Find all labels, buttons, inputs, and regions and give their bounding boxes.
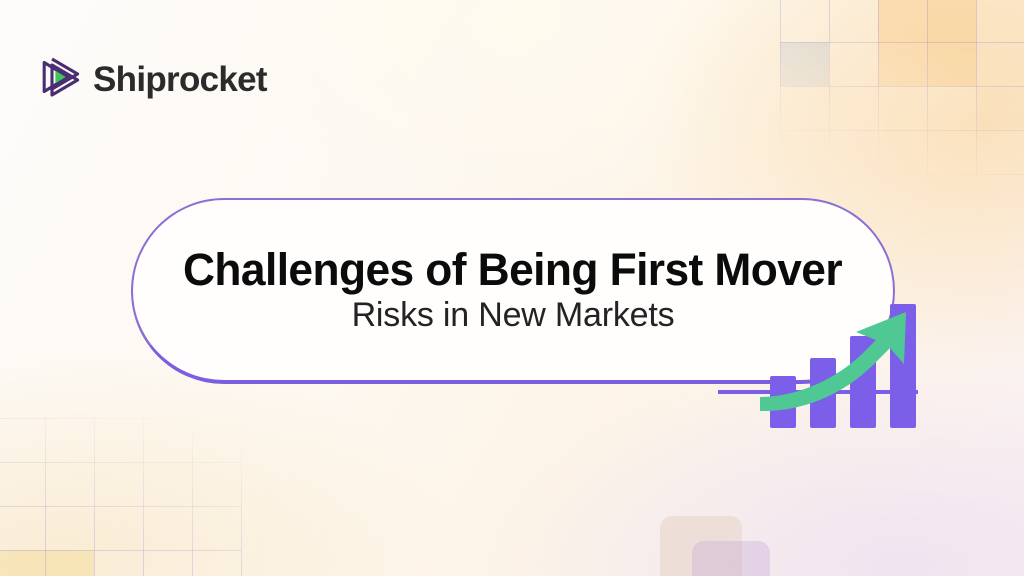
grid-line-horizontal	[780, 130, 1024, 131]
growth-bar-chart-with-arrow-icon	[744, 288, 944, 464]
shiprocket-play-triangle-icon	[38, 54, 84, 105]
grid-line-vertical	[976, 0, 977, 174]
grid-line-horizontal	[780, 174, 1024, 175]
grid-line-vertical	[45, 418, 46, 576]
soft-rect-purple	[692, 541, 770, 576]
grid-line-horizontal	[780, 86, 1024, 87]
grid-line-vertical	[927, 0, 928, 174]
grid-line-vertical	[94, 418, 95, 576]
grid-cell	[976, 42, 1024, 86]
grid-line-horizontal	[0, 462, 241, 463]
grid-cell	[780, 42, 829, 86]
grid-line-vertical	[192, 418, 193, 576]
page-subtitle: Risks in New Markets	[352, 297, 675, 334]
grid-line-vertical	[878, 0, 879, 174]
decorative-grid-bottom-left	[0, 418, 248, 576]
grid-line-vertical	[780, 0, 781, 174]
grid-line-vertical	[143, 418, 144, 576]
grid-line-horizontal	[0, 418, 241, 419]
grid-cell	[976, 86, 1024, 130]
grid-line-horizontal	[0, 550, 241, 551]
grid-line-vertical	[829, 0, 830, 174]
grid-line-horizontal	[0, 506, 241, 507]
brand-logo[interactable]: Shiprocket	[38, 54, 267, 105]
grid-cell	[976, 0, 1024, 42]
grid-line-vertical	[241, 418, 242, 576]
slide-canvas: Shiprocket Challenges of Being First Mov…	[0, 0, 1024, 576]
grid-cell	[927, 42, 976, 86]
grid-cell	[927, 0, 976, 42]
grid-cell	[878, 42, 927, 86]
grid-cell	[45, 550, 94, 576]
grid-cell	[0, 550, 45, 576]
grid-cell	[878, 0, 927, 42]
page-title: Challenges of Being First Mover	[184, 246, 843, 293]
grid-line-horizontal	[780, 42, 1024, 43]
brand-wordmark: Shiprocket	[93, 62, 267, 97]
decorative-grid-top-right	[780, 0, 1024, 176]
